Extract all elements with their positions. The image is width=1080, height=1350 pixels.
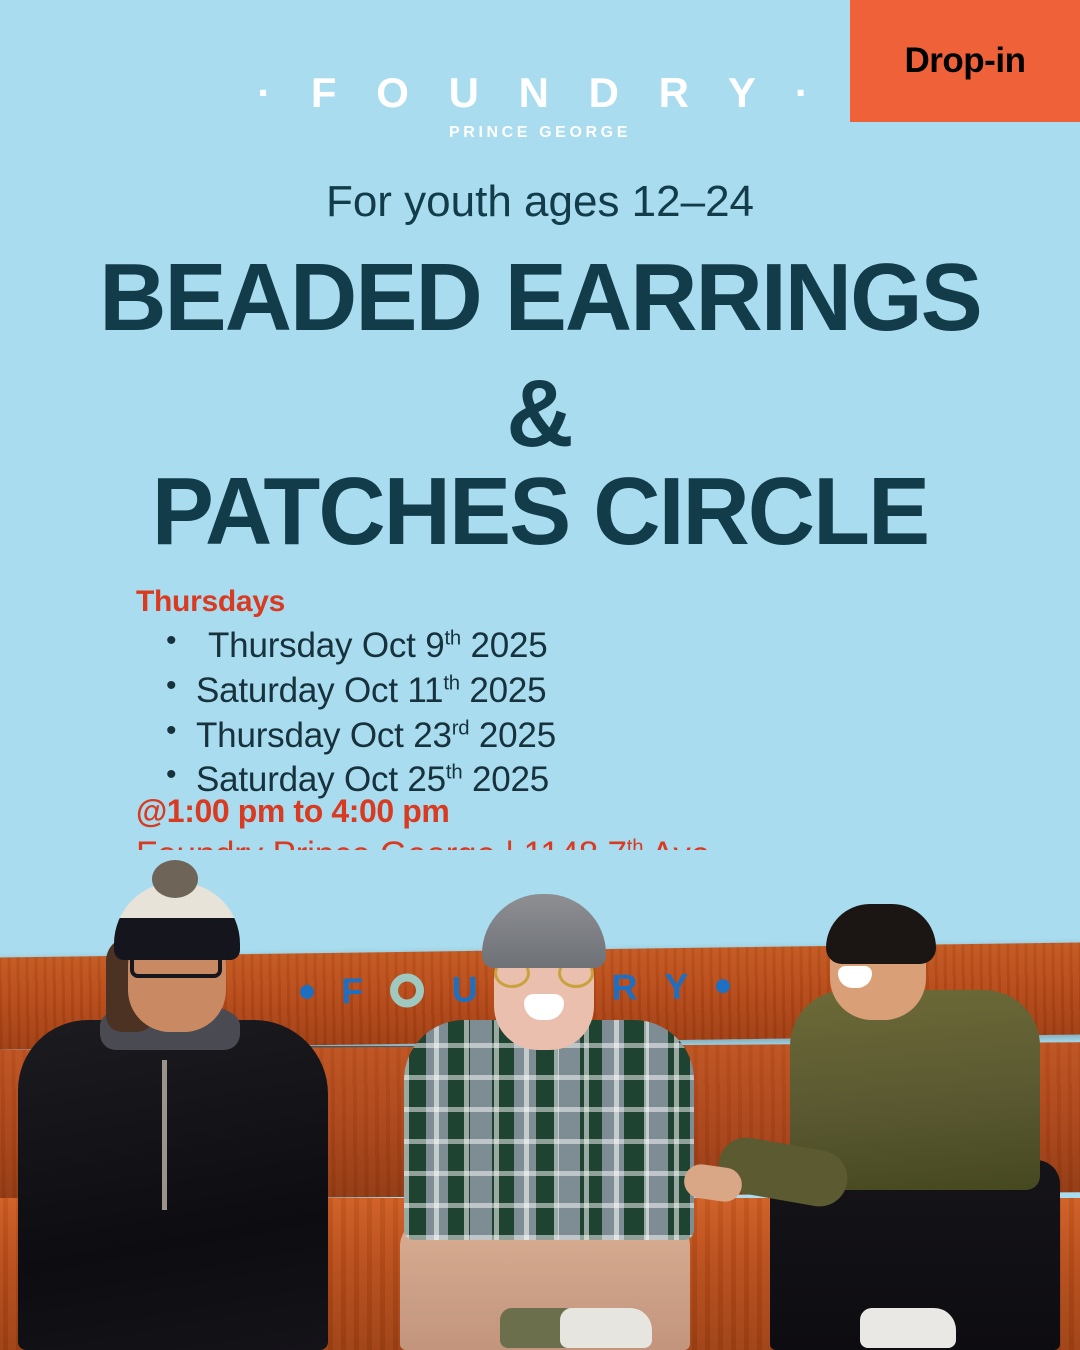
- person-middle-plaid-shirt: [404, 1020, 694, 1240]
- person-left-beanie-pom: [152, 860, 198, 898]
- event-time: @1:00 pm to 4:00 pm: [136, 794, 449, 829]
- date-list-item: Thursday Oct 23rd 2025: [136, 714, 896, 759]
- person-middle-smile: [524, 994, 564, 1020]
- date-year: 2025: [460, 671, 547, 710]
- person-middle-beanie: [482, 894, 606, 968]
- foundry-wordmark: · F O U N D R Y ·: [0, 72, 1080, 114]
- title-line-1: BEADED EARRINGS: [16, 252, 1064, 343]
- bench-letter-dot: [716, 979, 730, 993]
- foundry-location-label: PRINCE GEORGE: [0, 125, 1080, 141]
- date-ordinal: th: [446, 762, 463, 784]
- eyebrow-text: For youth ages 12–24: [0, 178, 1080, 226]
- date-ordinal: rd: [452, 717, 470, 739]
- title-line-2: PATCHES CIRCLE: [16, 466, 1064, 557]
- shoe-right: [860, 1308, 956, 1348]
- person-left-jacket: [18, 1020, 328, 1350]
- date-year: 2025: [469, 716, 556, 755]
- date-year: 2025: [461, 626, 548, 665]
- schedule-block: Thursdays Thursday Oct 9th 2025Saturday …: [136, 585, 896, 803]
- date-list: Thursday Oct 9th 2025Saturday Oct 11th 2…: [136, 624, 896, 803]
- date-list-item: Thursday Oct 9th 2025: [136, 624, 896, 669]
- date-text: Thursday Oct 23: [196, 716, 452, 755]
- foundry-logo: · F O U N D R Y · PRINCE GEORGE: [0, 72, 1080, 141]
- person-left: [10, 880, 340, 1350]
- date-ordinal: th: [443, 672, 460, 694]
- poster-canvas: Drop-in · F O U N D R Y · PRINCE GEORGE …: [0, 0, 1080, 1350]
- date-year: 2025: [462, 760, 549, 799]
- schedule-heading: Thursdays: [136, 585, 896, 618]
- person-left-zipper: [162, 1060, 167, 1210]
- title-ampersand: &: [16, 368, 1064, 459]
- person-right-hair-front: [826, 904, 936, 964]
- shoe-middle: [560, 1308, 652, 1348]
- person-middle: [390, 880, 710, 1350]
- date-text: Thursday Oct 9: [208, 626, 444, 665]
- date-text: Saturday Oct 11: [196, 671, 443, 710]
- hero-photo: FUNDRY: [0, 850, 1080, 1350]
- date-ordinal: th: [444, 627, 461, 649]
- date-list-item: Saturday Oct 11th 2025: [136, 669, 896, 714]
- bench-letter-f: F: [341, 970, 364, 1012]
- person-right: [760, 880, 1080, 1350]
